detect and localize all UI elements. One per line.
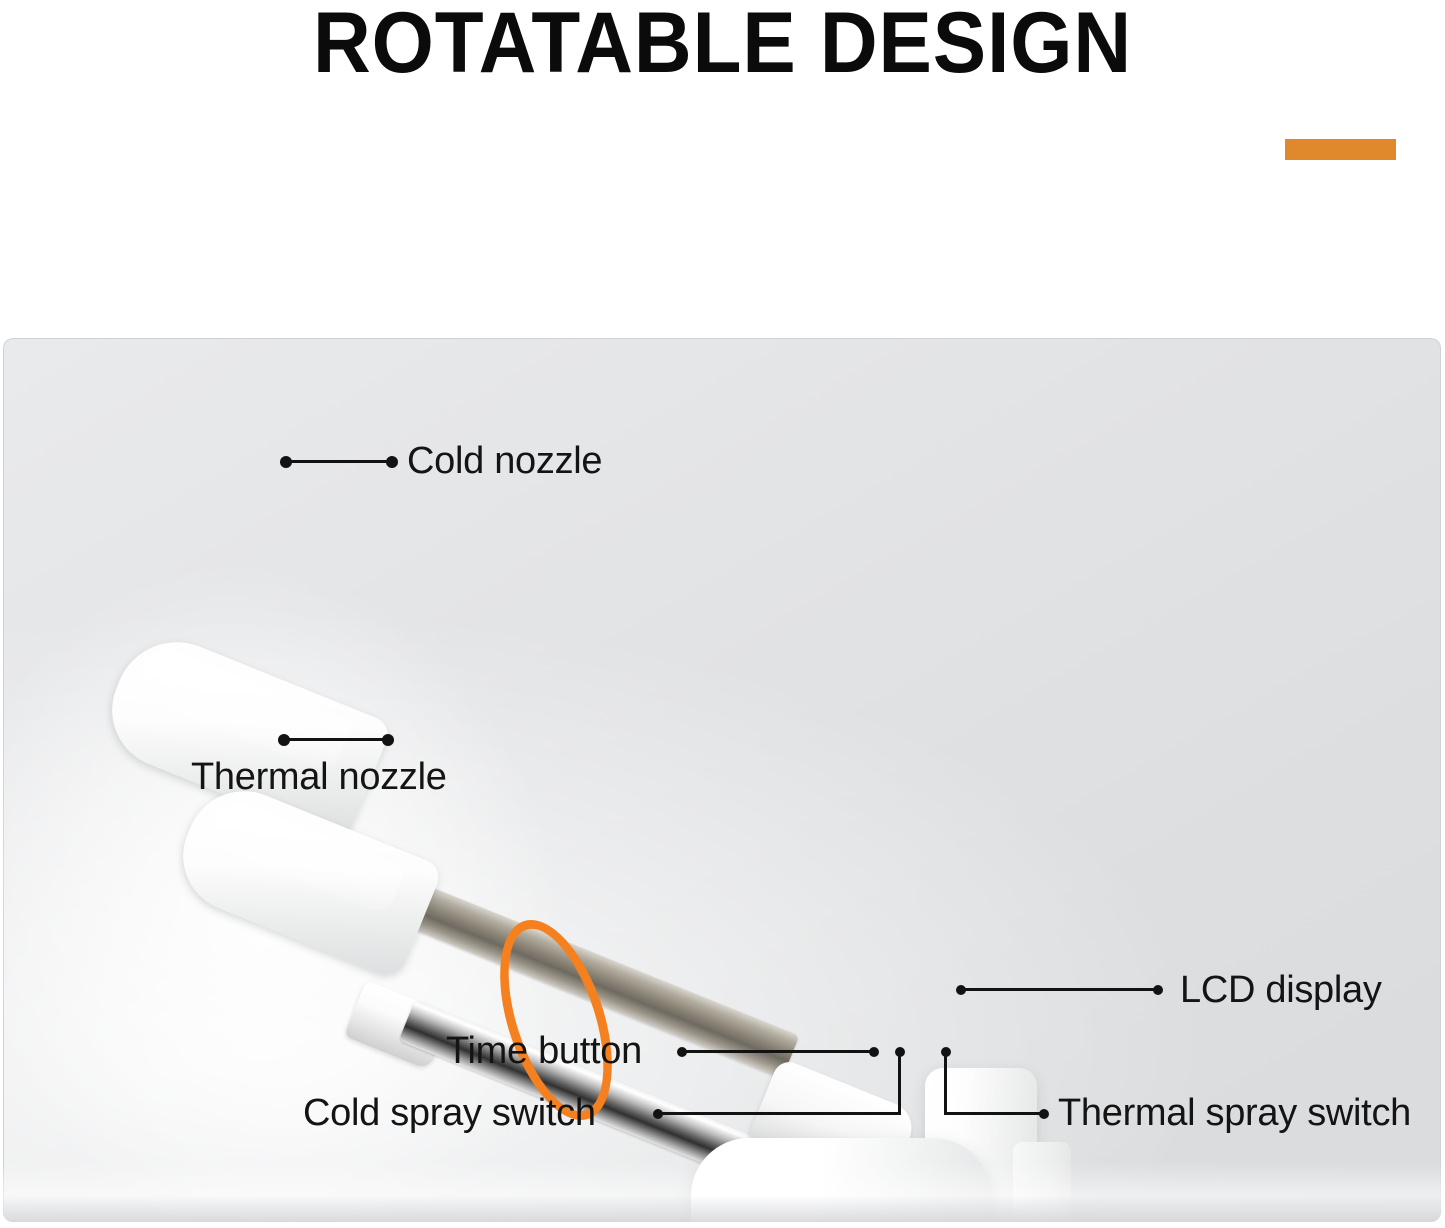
cold-spray-leader-horizontal	[658, 1112, 901, 1115]
thermal-nozzle-leader-line	[284, 738, 388, 741]
thermal-nozzle-label-dot	[382, 734, 394, 746]
steamer-body	[691, 1138, 991, 1222]
callout-thermal-spray-switch: Thermal spray switch	[1058, 1092, 1411, 1135]
water-tank-neck	[1013, 1142, 1071, 1222]
product-photo: MAX STEAM OZONE HOT COLD TIME LEVEL POWE…	[3, 338, 1441, 1222]
product-photo-panel: MAX STEAM OZONE HOT COLD TIME LEVEL POWE…	[3, 338, 1441, 1222]
accent-bar	[1285, 139, 1396, 160]
time-button-label-dot	[677, 1047, 687, 1057]
cold-spray-label-dot	[653, 1109, 663, 1119]
cold-nozzle-leader-line	[286, 460, 392, 463]
time-button-leader-line	[682, 1050, 874, 1053]
callout-cold-spray-switch: Cold spray switch	[303, 1092, 596, 1135]
infographic-page: ROTATABLE DESIGN MAX	[0, 0, 1445, 1228]
callout-lcd-display: LCD display	[1180, 969, 1382, 1012]
lcd-leader-line	[961, 988, 1157, 991]
lcd-label-dot	[1153, 985, 1163, 995]
cold-nozzle-label-dot	[386, 456, 398, 468]
callout-time-button: Time button	[446, 1030, 642, 1073]
thermal-spray-leader-horizontal	[944, 1112, 1044, 1115]
page-title: ROTATABLE DESIGN	[51, 0, 1395, 93]
thermal-spray-leader-vertical	[944, 1050, 947, 1114]
callout-thermal-nozzle: Thermal nozzle	[191, 756, 447, 799]
callout-cold-nozzle: Cold nozzle	[407, 440, 602, 483]
cold-spray-leader-vertical	[898, 1050, 901, 1114]
thermal-spray-label-dot	[1039, 1109, 1049, 1119]
